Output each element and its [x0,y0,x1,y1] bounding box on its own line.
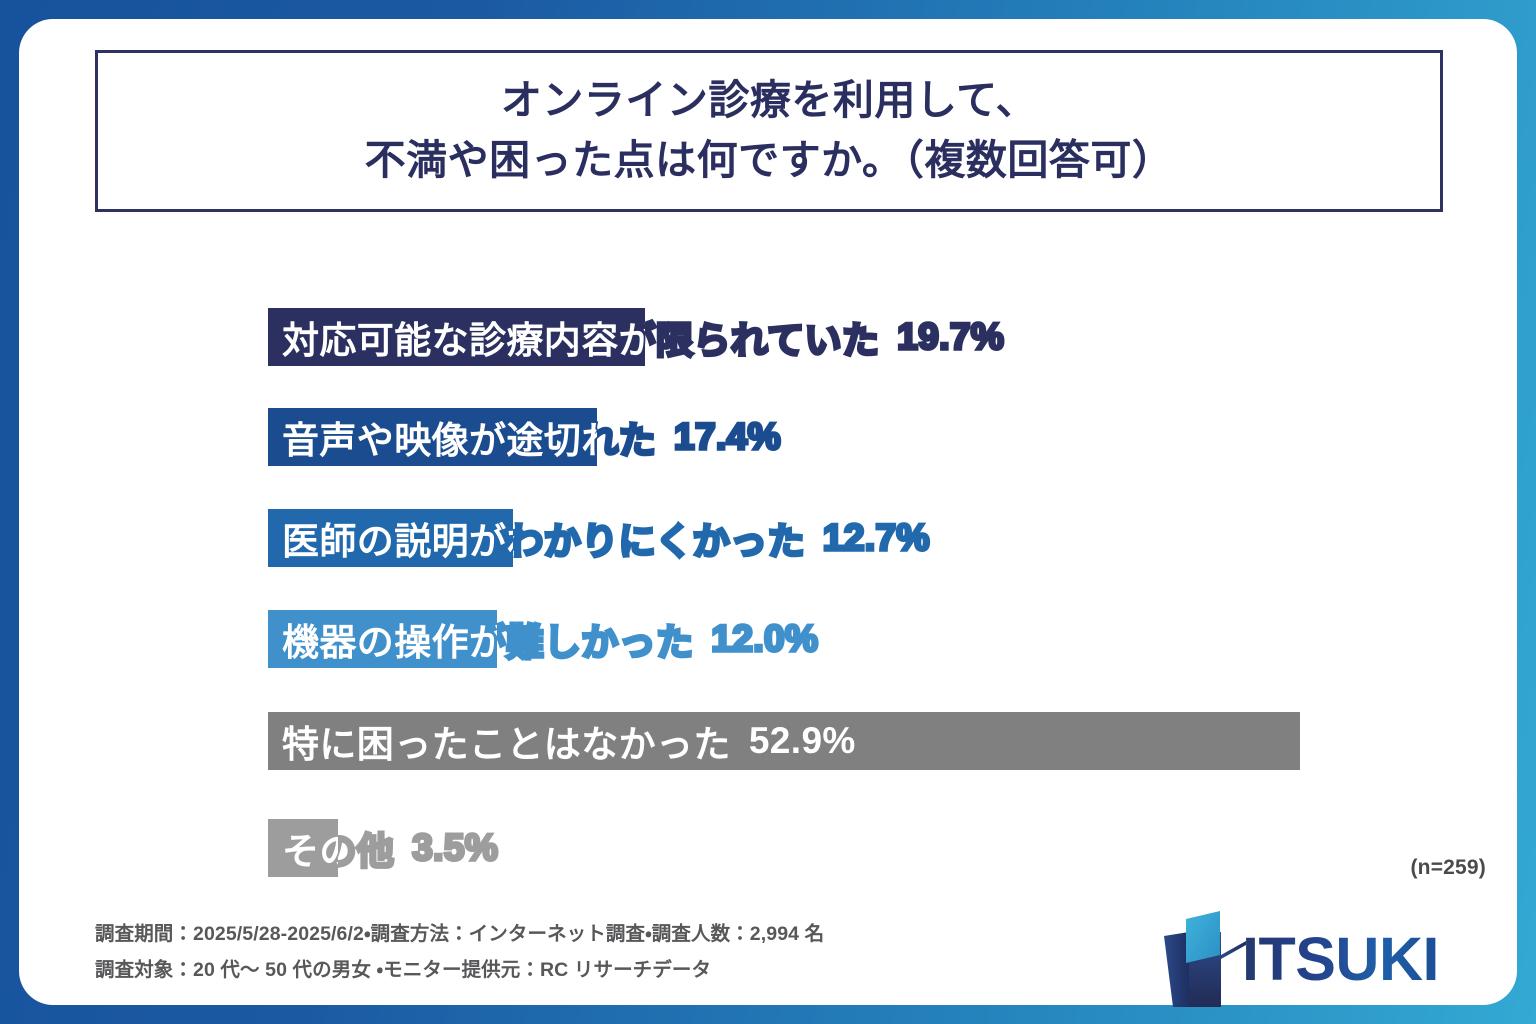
bar-label-inside-clip: 医師の説明がわかりにくかった12.7% [268,509,513,567]
bar-category-label: その他 [282,821,338,875]
page-title: オンライン診療を利用して、 不満や困った点は何ですか。（複数回答可） [95,50,1443,212]
bar-label-inside-clip: 機器の操作が難しかった12.0% [268,610,497,668]
logo-wordmark: ITSUKI [1242,929,1439,990]
bar-label: その他3.5% [282,819,338,877]
page-backdrop: オンライン診療を利用して、 不満や困った点は何ですか。（複数回答可） 対応可能な… [0,0,1536,1024]
bar-label: 特に困ったことはなかった52.9% [282,712,856,770]
bar-category-label: 音声や映像が途切れた [282,410,597,464]
bar-label: 機器の操作が難しかった12.0% [282,610,497,668]
bar-label: 対応可能な診療内容が限られていた19.7% [282,308,645,366]
bar-category-label: 特に困ったことはなかった [282,714,731,768]
bar-label-inside-clip: 特に困ったことはなかった52.9% [268,712,1300,770]
content-card: オンライン診療を利用して、 不満や困った点は何ですか。（複数回答可） 対応可能な… [19,19,1517,1005]
bar-value-label: 19.7% [897,316,1004,358]
bar-label-inside-clip: 対応可能な診療内容が限られていた19.7% [268,308,645,366]
bar-value-label: 12.7% [823,517,930,559]
itsuki-building-mark-icon [1164,911,1246,1007]
bar-label-inside-clip: 音声や映像が途切れた17.4% [268,408,597,466]
bar-label: 音声や映像が途切れた17.4% [282,408,597,466]
bar-label-inside-clip: その他3.5% [268,819,338,877]
brand-logo: ITSUKI [1164,911,1474,1007]
sample-size-note: (n=259) [1410,856,1486,880]
bar-chart: 対応可能な診療内容が限られていた19.7%対応可能な診療内容が限られていた19.… [268,270,1488,880]
footer-line-2: 調査対象：20 代〜 50 代の男女 ・モニター提供元：RC リサーチデータ [95,952,995,988]
survey-methodology: 調査期間：2025/5/28-2025/6/2・調査方法：インターネット調査・調… [95,916,995,988]
bar-value-label: 17.4% [674,416,781,458]
bar-value-label: 52.9% [749,720,856,762]
footer-line-1: 調査期間：2025/5/28-2025/6/2・調査方法：インターネット調査・調… [95,916,995,952]
bar-category-label: 機器の操作が難しかった [282,612,497,666]
bar-label: 医師の説明がわかりにくかった12.7% [282,509,513,567]
bar-value-label: 3.5% [412,827,498,869]
title-line-1: オンライン診療を利用して、 [501,71,1037,131]
bar-category-label: 医師の説明がわかりにくかった [282,511,513,565]
bar-value-label: 12.0% [711,618,818,660]
bar-category-label: 対応可能な診療内容が限られていた [282,310,645,364]
title-line-2: 不満や困った点は何ですか。（複数回答可） [365,131,1174,191]
